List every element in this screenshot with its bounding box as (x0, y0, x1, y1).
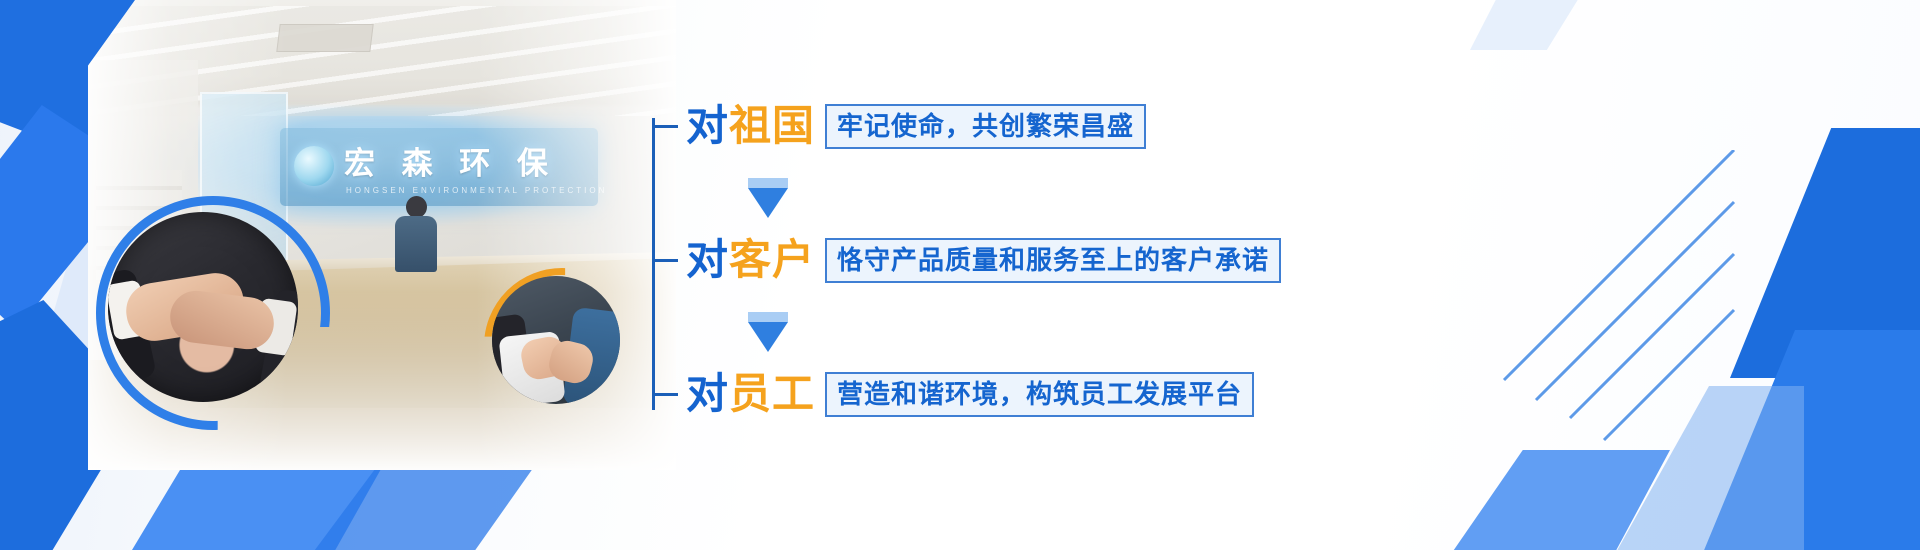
slogan-row-employee: 对员工 营造和谐环境，构筑员工发展平台 (652, 366, 1254, 422)
arrow-triangle-2 (748, 322, 788, 352)
promo-banner: 宏 森 环 保 HONGSEN ENVIRONMENTAL PROTECTION (0, 0, 1920, 550)
arrow-down-icon-2 (748, 312, 788, 352)
row-tick-country (652, 125, 678, 128)
arrow-cap-1 (748, 178, 788, 188)
decor-diagonal-lines (1484, 150, 1744, 480)
slogan-label-country: 对祖国 (686, 105, 815, 147)
slogan-row-country: 对祖国 牢记使命，共创繁荣昌盛 (652, 98, 1146, 154)
slogan-label-customer: 对客户 (686, 239, 815, 281)
applause-photo (492, 276, 620, 404)
slogan-prefix-country: 对 (686, 102, 729, 149)
handshake-hand-right (167, 288, 277, 352)
arrow-triangle-1 (748, 188, 788, 218)
slogan-target-country: 祖国 (729, 102, 815, 149)
row-tick-employee (652, 393, 678, 396)
slogan-target-customer: 客户 (729, 236, 815, 283)
arrow-down-icon-1 (748, 178, 788, 218)
slogan-prefix-employee: 对 (686, 370, 729, 417)
arrow-cap-2 (748, 312, 788, 322)
slogan-statement-customer: 恪守产品质量和服务至上的客户承诺 (825, 238, 1281, 283)
slogan-label-employee: 对员工 (686, 373, 815, 415)
slogan-row-customer: 对客户 恪守产品质量和服务至上的客户承诺 (652, 232, 1281, 288)
row-tick-customer (652, 259, 678, 262)
slogan-statement-country: 牢记使命，共创繁荣昌盛 (825, 104, 1146, 149)
handshake-photo (108, 212, 298, 402)
slogan-statement-employee: 营造和谐环境，构筑员工发展平台 (825, 372, 1254, 417)
slogan-target-employee: 员工 (729, 370, 815, 417)
slogan-prefix-customer: 对 (686, 236, 729, 283)
slogan-rows: 对祖国 牢记使命，共创繁荣昌盛 对客户 恪守产品质量和服务至上的客户承诺 对员工… (652, 80, 1412, 470)
